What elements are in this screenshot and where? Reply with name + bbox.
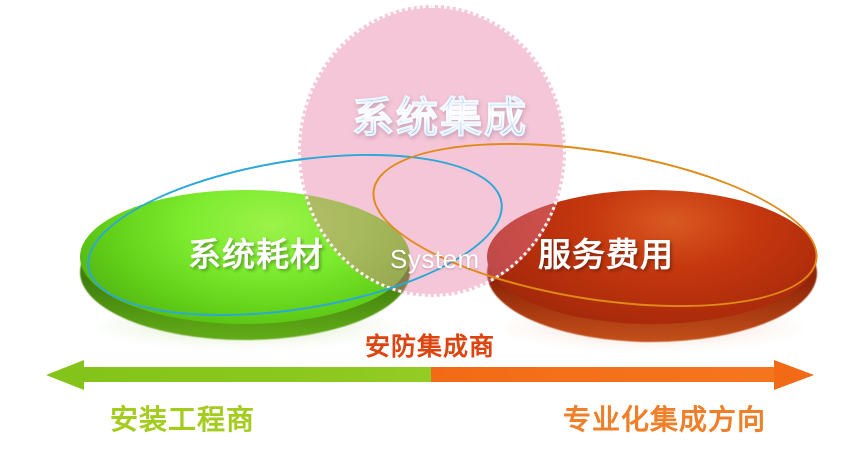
axis-arrow-bar xyxy=(0,358,865,392)
diagram-canvas: 系统耗材 服务费用 系统集成 System 安防集成商 安装工程商 专业化集成方… xyxy=(0,0,865,450)
arrow-right-icon xyxy=(774,360,814,390)
axis-middle-label: 安防集成商 xyxy=(365,333,495,361)
venn-center-label: System xyxy=(390,244,480,274)
venn-label-pink: 系统集成 xyxy=(352,92,528,144)
arrow-left-icon xyxy=(46,360,84,390)
venn-label-green: 系统耗材 xyxy=(188,236,324,274)
axis-caption-right: 专业化集成方向 xyxy=(563,404,766,436)
venn-label-red: 服务费用 xyxy=(538,236,674,274)
arrow-right-shaft xyxy=(431,367,776,382)
axis-caption-left: 安装工程商 xyxy=(110,404,255,436)
arrow-left-shaft xyxy=(83,367,431,382)
